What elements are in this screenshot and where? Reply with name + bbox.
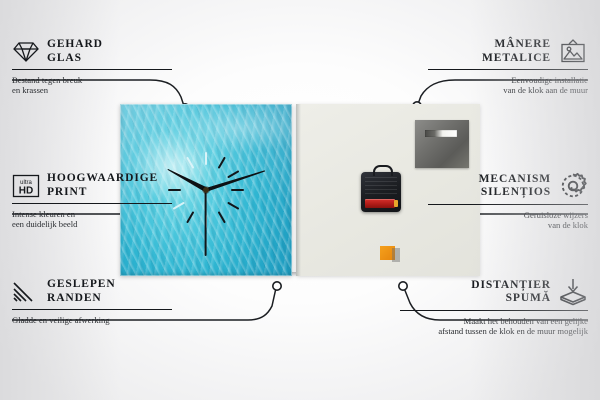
callout-header: GESLEPEN RANDEN (12, 278, 172, 305)
callout-rule (12, 309, 172, 310)
desc-line: en krassen (12, 85, 172, 95)
callout-title: DISTANȚIER SPUMĂ (471, 279, 551, 306)
clock-mechanism (361, 172, 401, 212)
desc-line: Bestand tegen breuk (12, 75, 172, 85)
callout-rule (12, 69, 172, 70)
callout-desc: Maakt het behouden van een gelijke afsta… (400, 316, 588, 337)
product-image (120, 104, 480, 280)
metal-hanger-plate (415, 120, 469, 168)
callout-header: MÂNERE METALICE (428, 38, 588, 65)
spacer-press-icon (558, 278, 588, 306)
desc-line: van de klok aan de muur (428, 85, 588, 95)
foam-spacer (380, 246, 395, 260)
infographic-canvas: GEHARD GLAS Bestand tegen breuk en krass… (0, 0, 600, 400)
hanger-slot (425, 130, 457, 137)
callout-title: GEHARD GLAS (47, 38, 103, 65)
callout-rule (12, 203, 172, 204)
desc-line: van de klok (428, 220, 588, 230)
title-line: RANDEN (47, 292, 116, 306)
gear-icon (558, 172, 588, 200)
callout-desc: Eenvoudige installatie van de klok aan d… (428, 75, 588, 96)
clock-center-pin (203, 187, 209, 193)
picture-frame-hanger-icon (558, 39, 588, 65)
callout-title: MECANISM SILENȚIOS (479, 173, 551, 200)
desc-line: Geruisloze wijzers (428, 210, 588, 220)
callout-distantier-spuma: DISTANȚIER SPUMĂ Maakt het behouden van … (400, 278, 588, 337)
title-line: METALICE (482, 52, 551, 66)
desc-line: Maakt het behouden van een gelijke (400, 316, 588, 326)
svg-text:HD: HD (19, 185, 33, 196)
callout-desc: Bestand tegen breuk en krassen (12, 75, 172, 96)
desc-line: Gladde en veilige afwerking (12, 315, 172, 325)
title-line: GEHARD (47, 38, 103, 52)
desc-line: een duidelijk beeld (12, 219, 172, 229)
callout-header: DISTANȚIER SPUMĂ (400, 278, 588, 306)
desc-line: afstand tussen de klok en de muur mogeli… (400, 326, 588, 336)
beveled-edges-icon (12, 280, 40, 304)
callout-header: MECANISM SILENȚIOS (428, 172, 588, 200)
callout-title: HOOGWAARDIGE PRINT (47, 172, 158, 199)
hanger-loop-icon (373, 165, 393, 176)
mechanism-grooves (365, 177, 397, 194)
callout-rule (400, 310, 588, 311)
title-line: GESLEPEN (47, 278, 116, 292)
callout-rule (428, 204, 588, 205)
callout-title: GESLEPEN RANDEN (47, 278, 116, 305)
callout-gehard-glas: GEHARD GLAS Bestand tegen breuk en krass… (12, 38, 172, 96)
battery (365, 199, 395, 208)
title-line: SILENȚIOS (481, 186, 551, 200)
title-line: MECANISM (479, 173, 551, 187)
title-line: PRINT (47, 186, 158, 200)
callout-desc: Intense kleuren en een duidelijk beeld (12, 209, 172, 230)
callout-rule (428, 69, 588, 70)
second-hand (205, 190, 207, 256)
title-line: HOOGWAARDIGE (47, 172, 158, 186)
callout-header: ultra HD HOOGWAARDIGE PRINT (12, 172, 172, 199)
callout-hoogwaardige-print: ultra HD HOOGWAARDIGE PRINT Intense kleu… (12, 172, 172, 230)
callout-manere-metalice: MÂNERE METALICE Eenvoudige installatie v… (428, 38, 588, 96)
title-line: DISTANȚIER (471, 279, 551, 293)
callout-desc: Geruisloze wijzers van de klok (428, 210, 588, 231)
callout-header: GEHARD GLAS (12, 38, 172, 65)
desc-line: Intense kleuren en (12, 209, 172, 219)
diamond-icon (12, 41, 40, 63)
title-line: SPUMĂ (506, 292, 551, 306)
title-line: MÂNERE (494, 38, 551, 52)
callout-title: MÂNERE METALICE (482, 38, 551, 65)
desc-line: Eenvoudige installatie (428, 75, 588, 85)
ultra-hd-icon: ultra HD (12, 174, 40, 198)
title-line: GLAS (47, 52, 103, 66)
callout-geslepen-randen: GESLEPEN RANDEN Gladde en veilige afwerk… (12, 278, 172, 325)
callout-mecanism-silentios: MECANISM SILENȚIOS Geruisloze wijzers va… (428, 172, 588, 231)
callout-desc: Gladde en veilige afwerking (12, 315, 172, 325)
